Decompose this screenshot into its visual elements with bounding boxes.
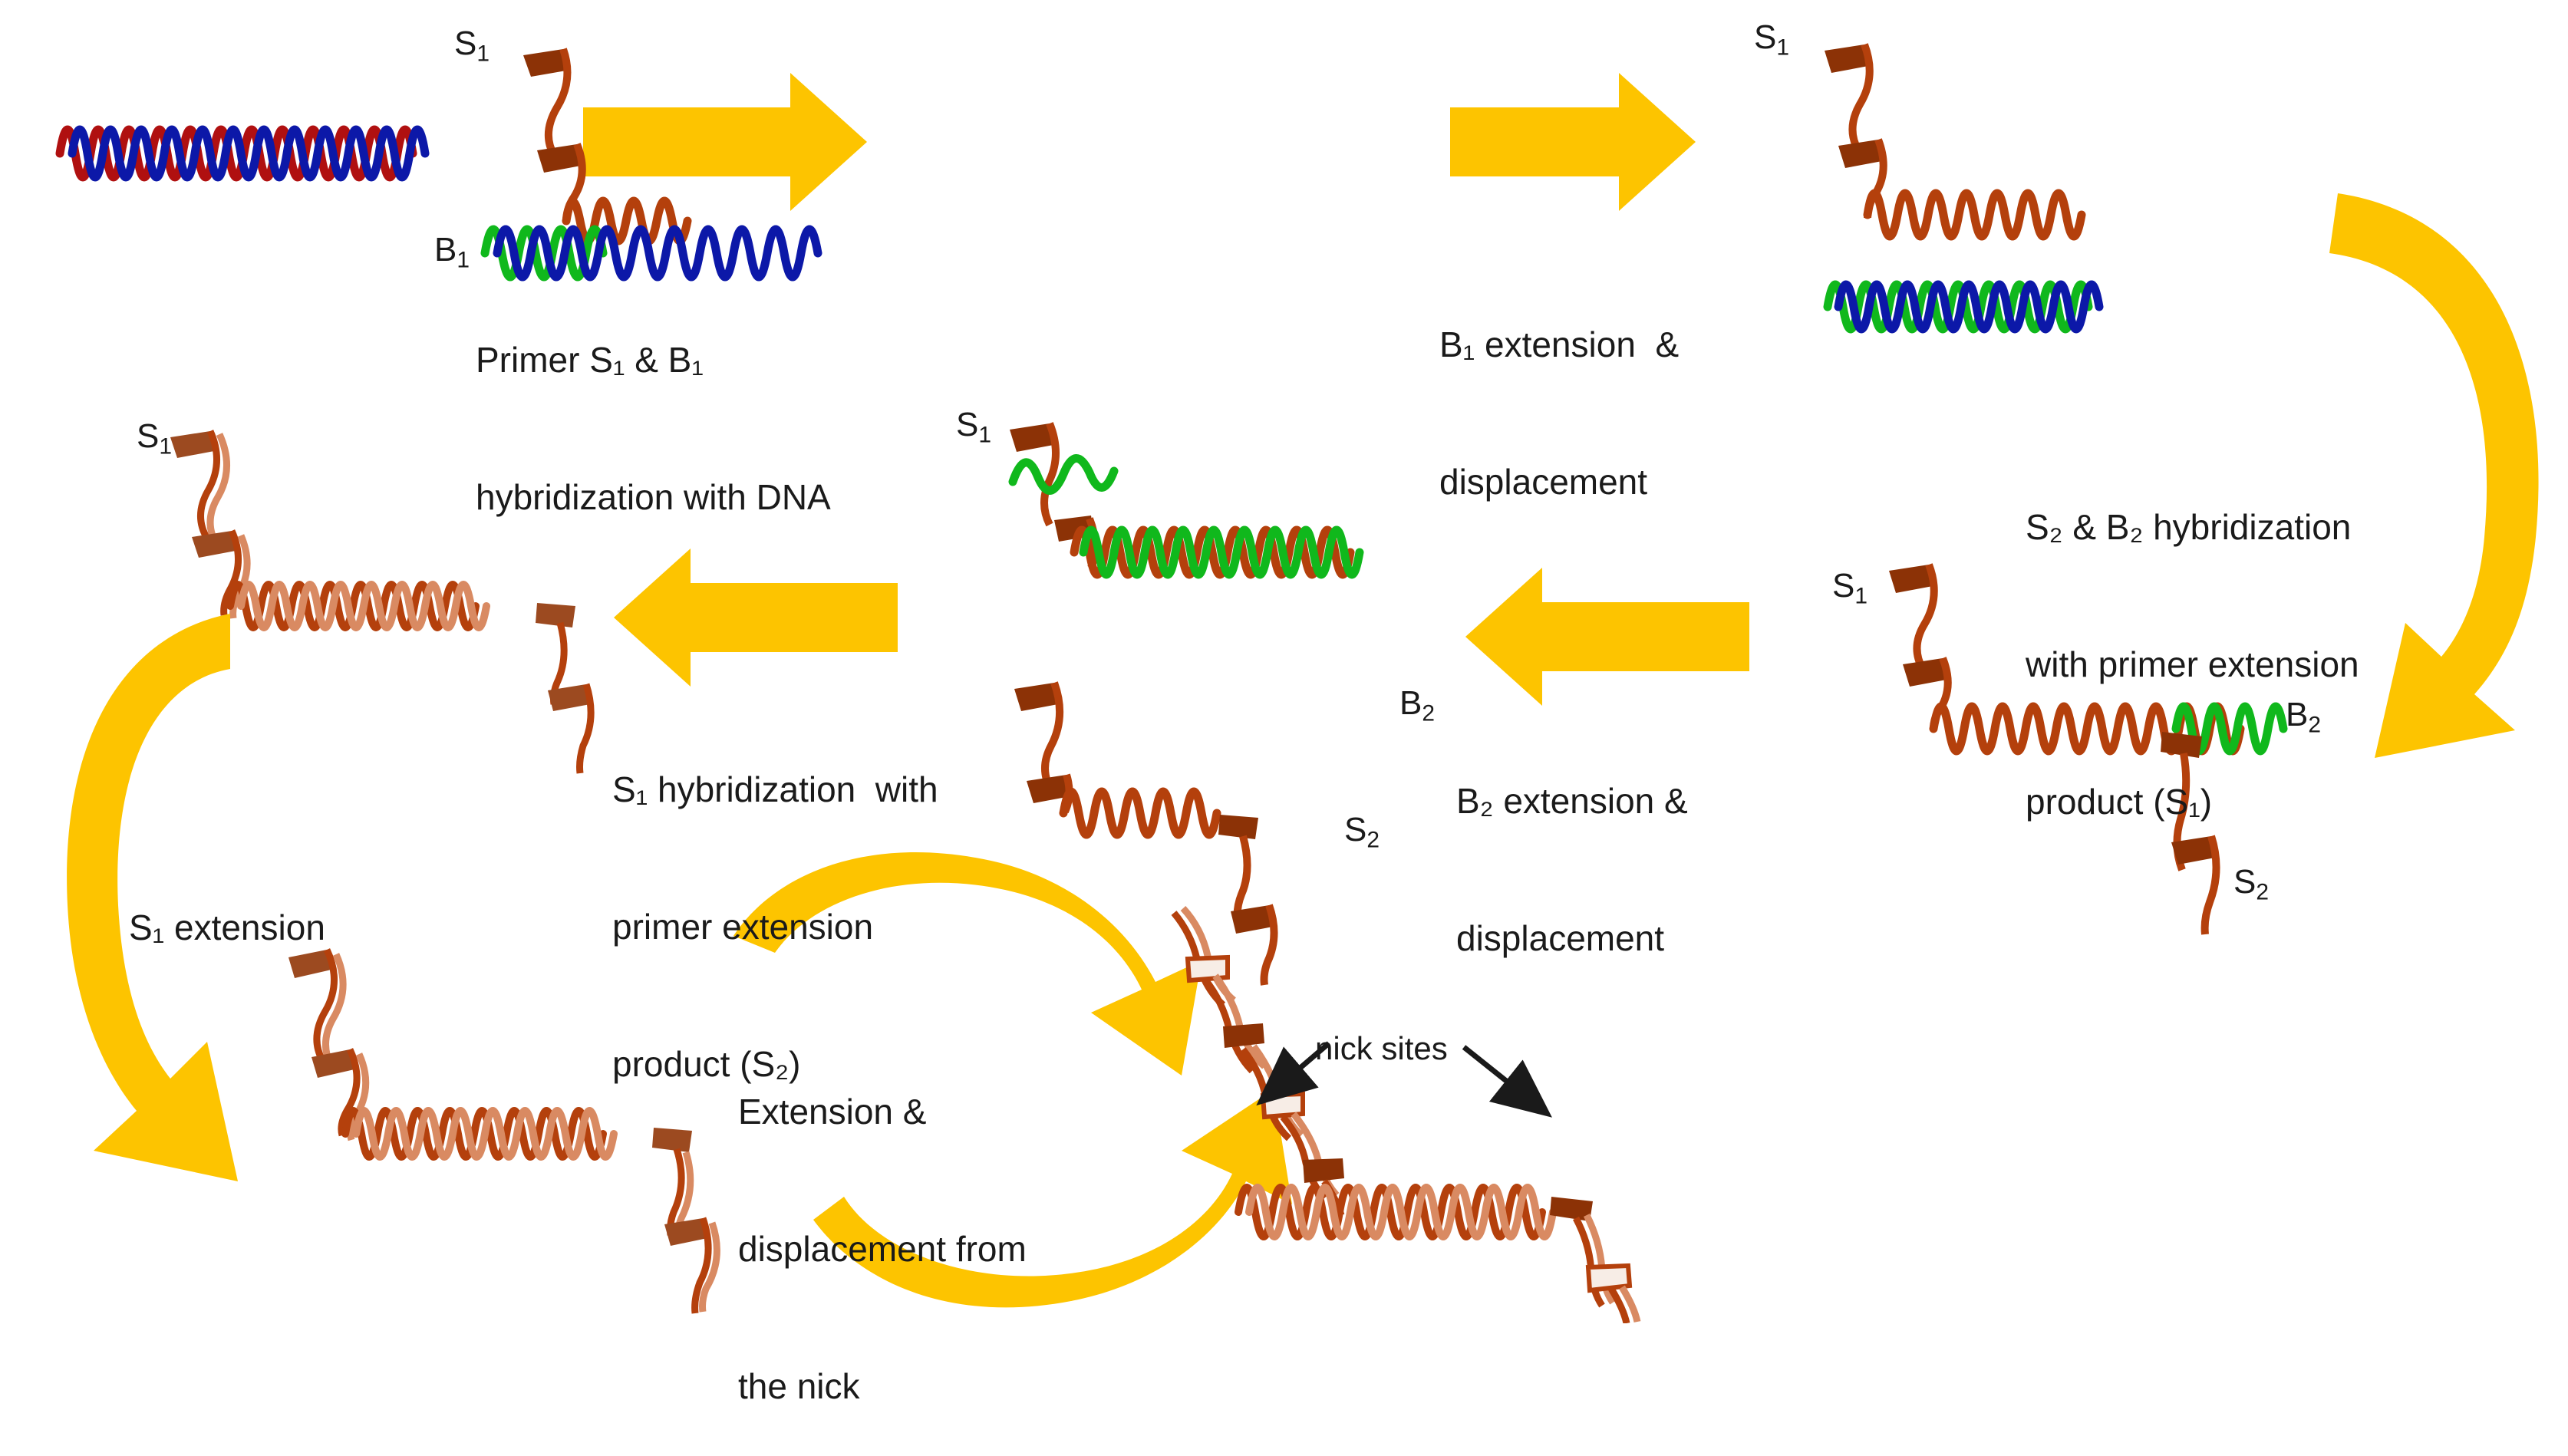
- caption-line: primer extension: [612, 904, 938, 950]
- caption-nick-extension: Extension & displacement from the nick: [738, 997, 1027, 1456]
- caption-b2-extension: B₂ extension & displacement: [1456, 687, 1688, 1008]
- caption-line: displacement from: [738, 1227, 1027, 1273]
- arrow-right-1: [583, 73, 867, 211]
- caption-line: the nick: [738, 1364, 1027, 1410]
- caption-line: S₂ & B₂ hybridization: [2026, 505, 2359, 551]
- caption-line: B₁ extension &: [1439, 322, 1679, 368]
- caption-line: S₁ hybridization with: [612, 767, 938, 813]
- label-s1-mid-center: S1: [956, 403, 991, 450]
- label-b2-mid-center: B2: [1399, 681, 1435, 729]
- caption-primer-hybridization: Primer S₁ & B₁ hybridization with DNA: [476, 245, 831, 567]
- label-b2-right-low: B2: [2286, 693, 2321, 740]
- caption-line: Primer S₁ & B₁: [476, 338, 831, 384]
- arrow-left-2: [614, 548, 898, 687]
- label-nick-sites: nick sites: [1315, 1028, 1448, 1070]
- label-s1-right-low: S1: [1832, 564, 1867, 611]
- strand-s2-single-center: [1014, 683, 1274, 985]
- strand-brown-green-duplex-center: [1010, 423, 1360, 575]
- caption-line: Extension &: [738, 1089, 1027, 1135]
- caption-b1-extension: B₁ extension & displacement: [1439, 230, 1679, 552]
- caption-line: product (S₁): [2026, 779, 2359, 825]
- caption-line: displacement: [1456, 916, 1688, 962]
- caption-s1-extension: S₁ extension: [129, 813, 325, 996]
- label-s1-top-right: S1: [1754, 15, 1789, 63]
- arrow-curve-down-right: [2329, 193, 2539, 758]
- caption-line: S₁ extension: [129, 905, 325, 951]
- strand-s1-extension-product-top-right: [1825, 44, 2082, 236]
- caption-line: hybridization with DNA: [476, 475, 831, 521]
- arrow-left-1: [1465, 568, 1749, 706]
- label-s2-right-low: S2: [2233, 860, 2269, 908]
- caption-line: B₂ extension &: [1456, 779, 1688, 825]
- caption-line: displacement: [1439, 460, 1679, 506]
- arrow-right-2: [1450, 73, 1696, 211]
- label-s1-top-center: S1: [454, 21, 490, 69]
- label-b1-top-center: B1: [434, 228, 470, 275]
- strand-duplex-red-blue-target: [60, 130, 425, 177]
- caption-line: with primer extension: [2026, 642, 2359, 688]
- caption-s2b2-hybridization: S₂ & B₂ hybridization with primer extens…: [2026, 413, 2359, 871]
- diagram-canvas: Primer S₁ & B₁ hybridization with DNA B₁…: [0, 0, 2568, 1323]
- label-s1-mid-left: S1: [137, 414, 172, 462]
- strand-duplex-green-blue-top-right: [1828, 285, 2099, 329]
- label-s2-mid-center: S2: [1344, 808, 1380, 855]
